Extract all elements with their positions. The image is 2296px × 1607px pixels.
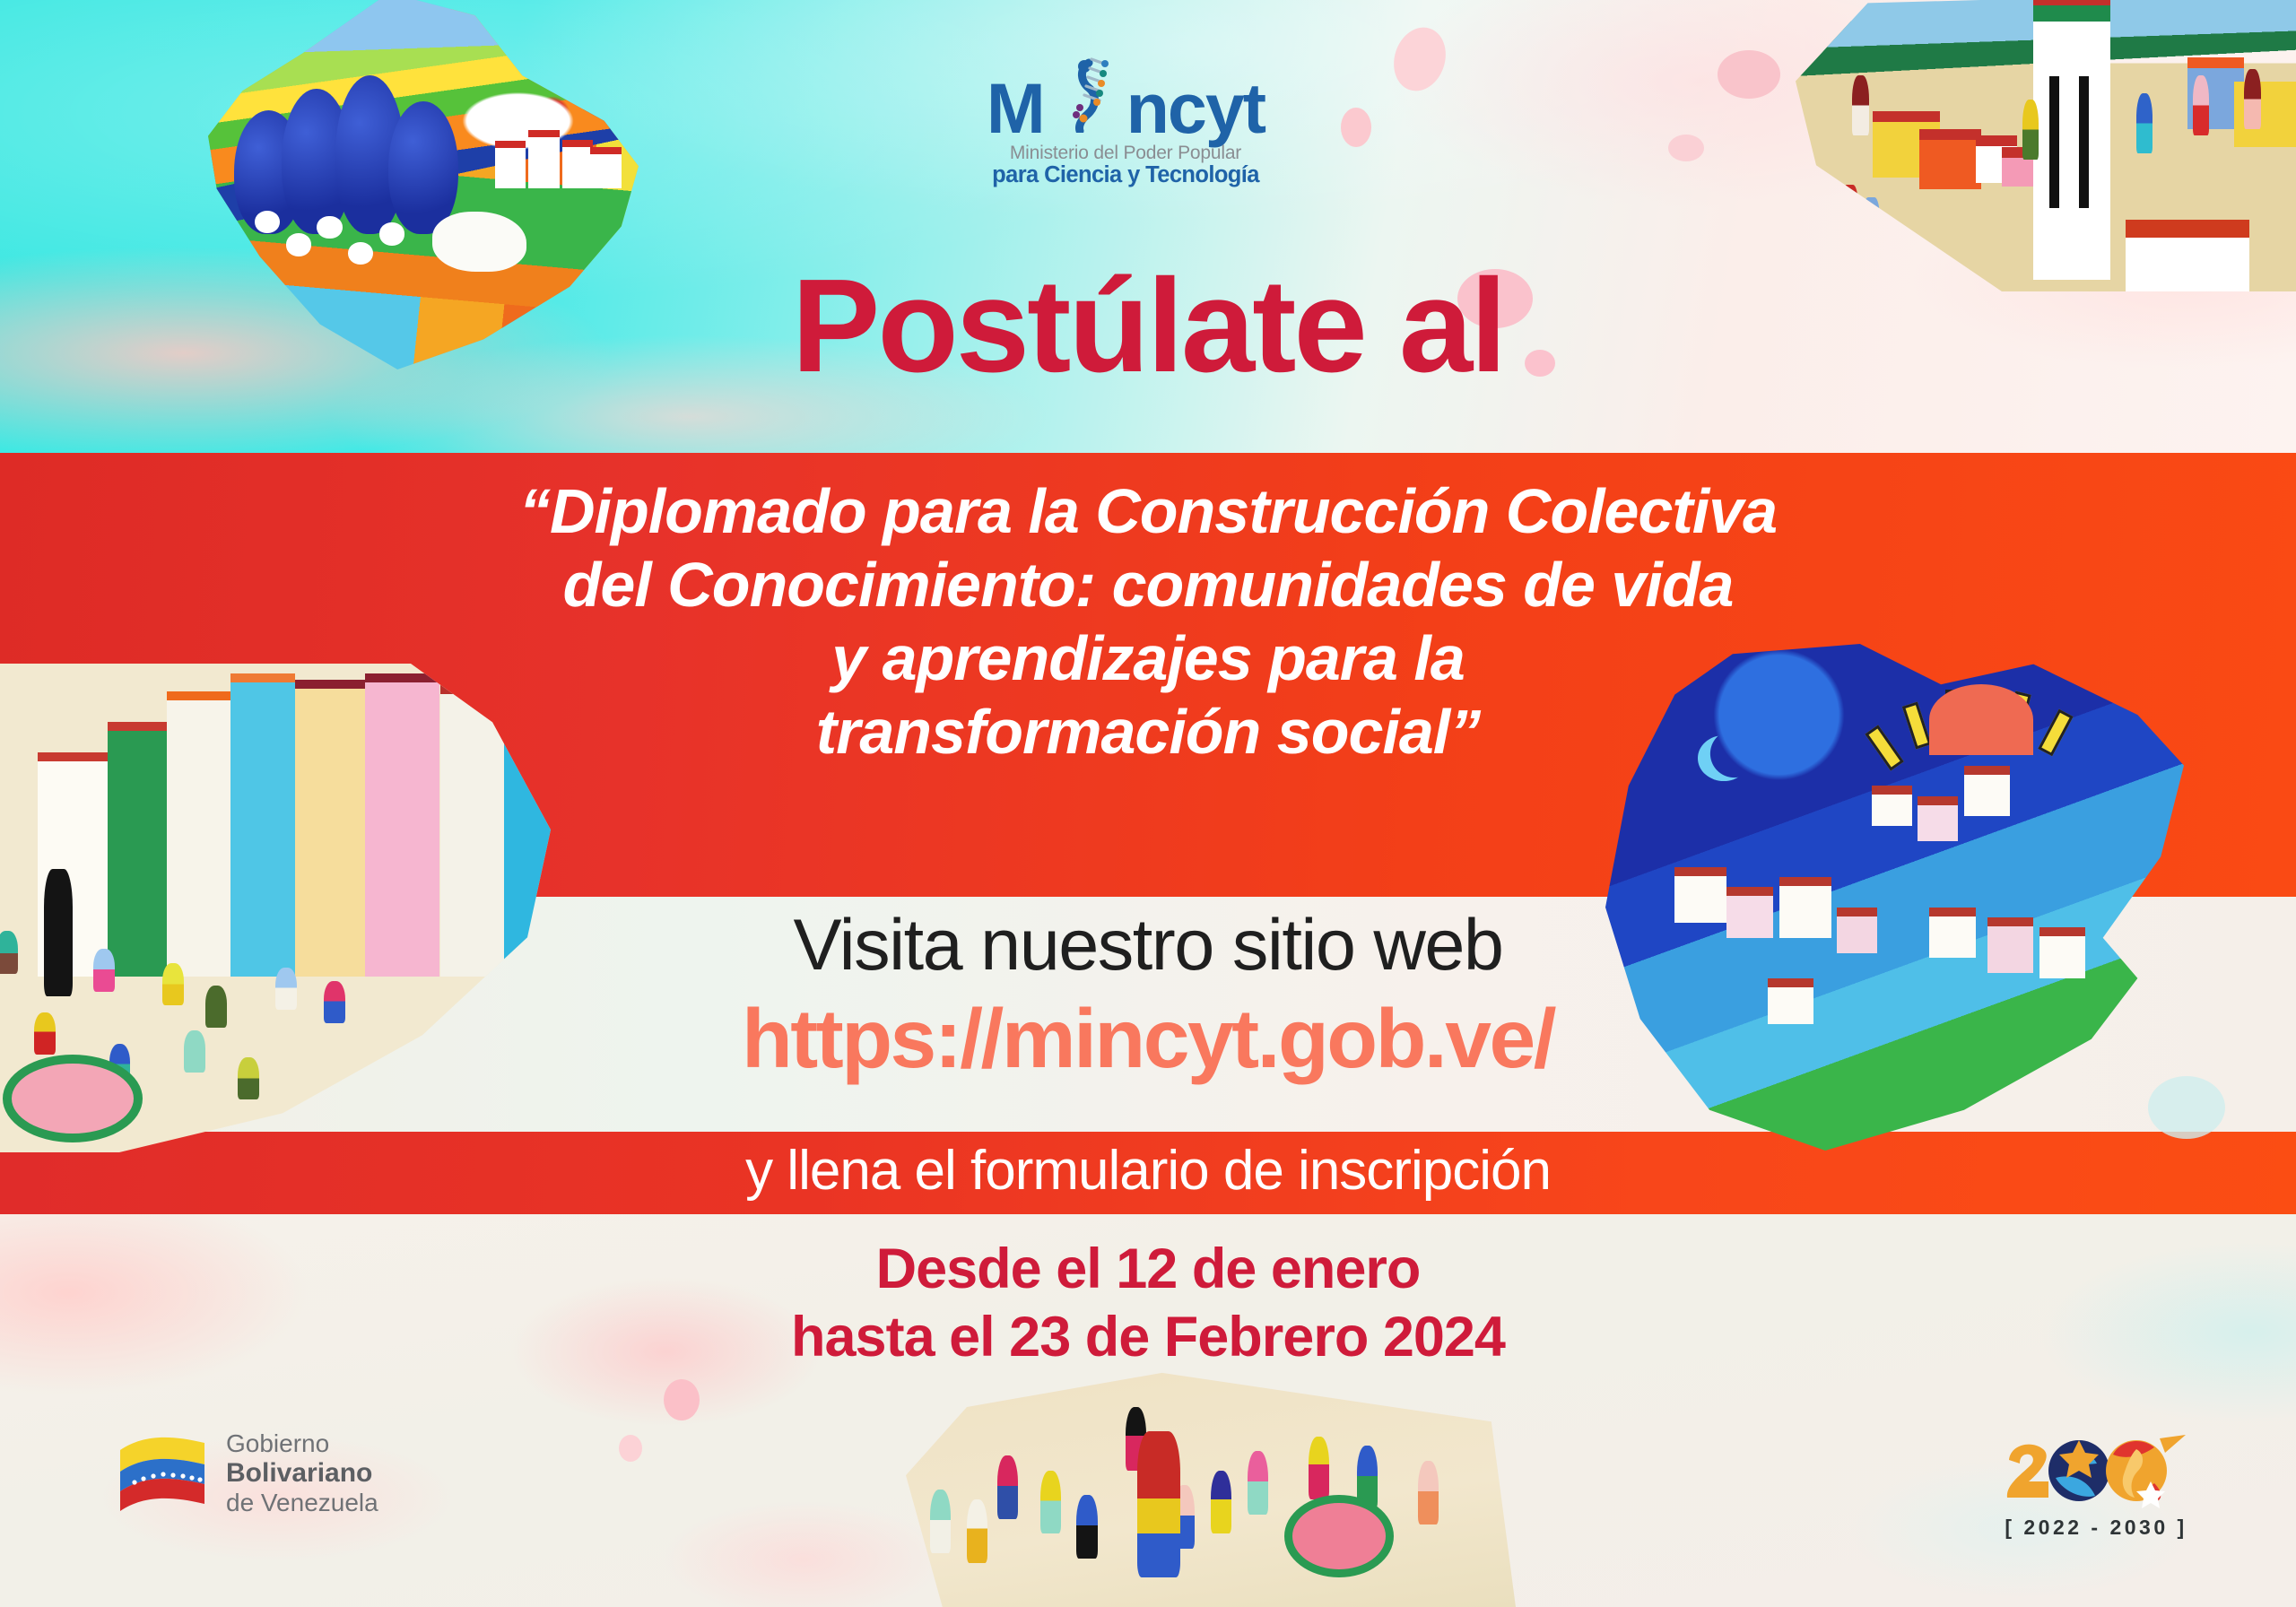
- gobierno-bolivariano-wordmark: Gobierno Bolivariano de Venezuela: [226, 1429, 378, 1516]
- page-title: Postúlate al: [0, 260, 2296, 393]
- decorative-blob: [664, 1379, 700, 1420]
- mincyt-wordmark-part1: M: [987, 68, 1044, 148]
- plan-2030-logo: [ 2022 - 2030 ]: [2002, 1433, 2190, 1540]
- plan-2030-logo-icon: [2002, 1433, 2190, 1510]
- gobierno-line-2: Bolivariano: [226, 1458, 378, 1489]
- masked-dancer-motif: [1137, 1431, 1180, 1577]
- plan-2030-years: [ 2022 - 2030 ]: [2002, 1516, 2190, 1540]
- decorative-blob: [619, 1435, 642, 1462]
- gobierno-bolivariano-logo: Gobierno Bolivariano de Venezuela: [115, 1429, 378, 1516]
- mincyt-subtitle-line1: Ministerio del Poder Popular: [973, 143, 1278, 164]
- poster-root: M ncyt Ministerio del Poder Popu: [0, 0, 2296, 1607]
- course-title-line-2: del Conocimiento: comunidades de vida: [296, 549, 2000, 622]
- decorative-blob: [1718, 50, 1780, 99]
- mincyt-wordmark-part2: ncyt: [1126, 68, 1265, 148]
- mincyt-subtitle-line2: para Ciencia y Tecnología: [973, 162, 1278, 188]
- mincyt-wordmark: M ncyt: [973, 56, 1278, 142]
- course-title: “Diplomado para la Construcción Colectiv…: [296, 475, 2000, 769]
- enrollment-end-date: hasta el 23 de Febrero 2024: [0, 1304, 2296, 1372]
- plaza-fountain-motif: [1284, 1495, 1394, 1577]
- visit-website-label: Visita nuestro sitio web: [0, 904, 2296, 987]
- decorative-blob: [1341, 108, 1371, 147]
- venezuela-flag-icon: [115, 1432, 212, 1515]
- red-roof-houses-motif: [492, 121, 622, 189]
- enrollment-start-date: Desde el 12 de enero: [0, 1236, 2296, 1304]
- course-title-line-1: “Diplomado para la Construcción Colectiv…: [296, 475, 2000, 549]
- course-title-line-3: y aprendizajes para la: [296, 622, 2000, 696]
- course-title-line-4: transformación social”: [296, 696, 2000, 769]
- gobierno-line-1: Gobierno: [226, 1429, 378, 1458]
- gobierno-line-3: de Venezuela: [226, 1489, 378, 1517]
- registration-form-label: y llena el formulario de inscripción: [0, 1139, 2296, 1203]
- enrollment-dates: Desde el 12 de enero hasta el 23 de Febr…: [0, 1236, 2296, 1371]
- website-url-link[interactable]: https://mincyt.gob.ve/: [0, 991, 2296, 1087]
- mincyt-logo: M ncyt Ministerio del Poder Popu: [973, 56, 1278, 188]
- decorative-blob: [1668, 135, 1704, 161]
- dna-helix-person-icon: [1062, 56, 1109, 142]
